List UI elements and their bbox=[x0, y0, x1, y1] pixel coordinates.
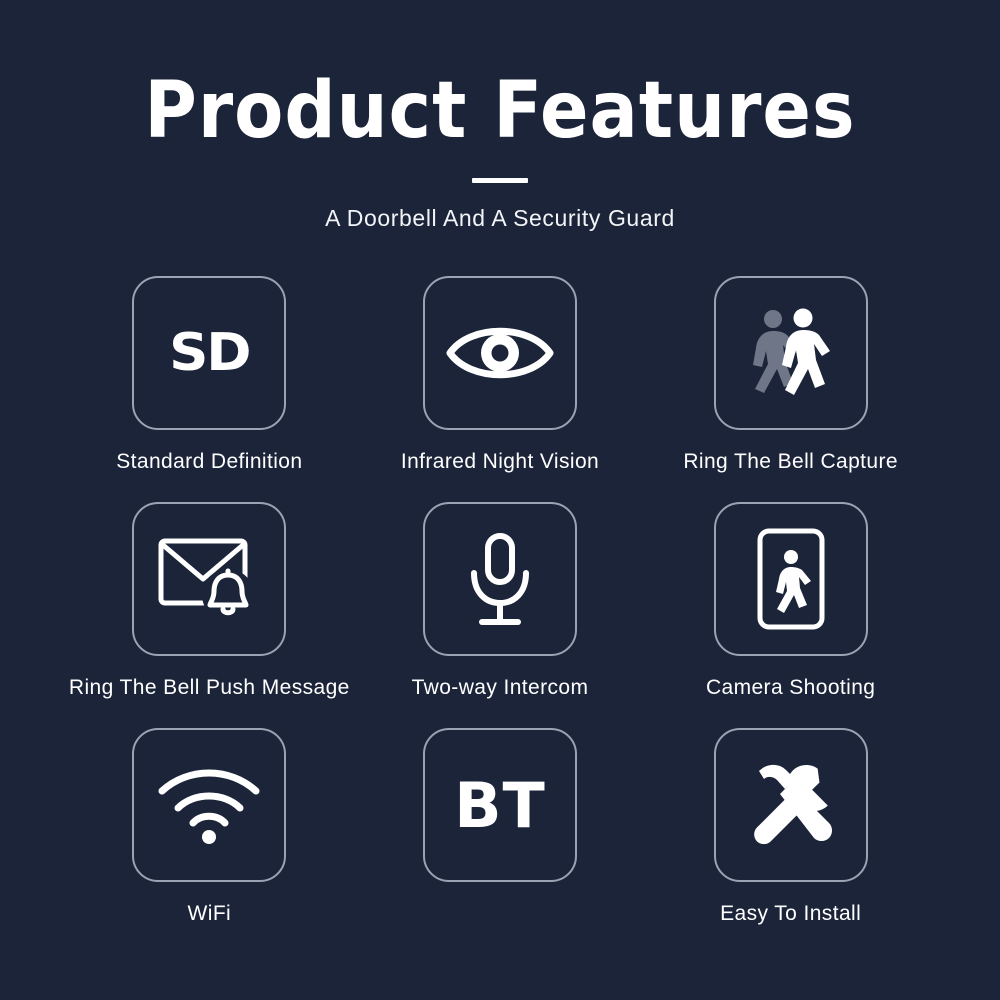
icon-box bbox=[714, 276, 868, 430]
icon-box bbox=[714, 728, 868, 882]
icon-box bbox=[132, 502, 286, 656]
feature-label: WiFi bbox=[188, 902, 232, 926]
title-divider bbox=[472, 178, 528, 183]
icon-box bbox=[423, 276, 577, 430]
feature-item: Camera Shooting bbox=[645, 502, 936, 700]
feature-label: Easy To Install bbox=[720, 902, 861, 926]
feature-label: Two-way Intercom bbox=[412, 676, 589, 700]
phone-person-icon bbox=[755, 527, 827, 631]
feature-label: Ring The Bell Capture bbox=[683, 450, 898, 474]
sd-icon: SD bbox=[169, 323, 249, 383]
product-features-page: Product Features A Doorbell And A Securi… bbox=[0, 0, 1000, 1000]
icon-box bbox=[423, 502, 577, 656]
page-header: Product Features A Doorbell And A Securi… bbox=[0, 0, 1000, 232]
eye-icon bbox=[445, 318, 555, 388]
feature-item: Two-way Intercom bbox=[355, 502, 646, 700]
features-grid: SD Standard Definition Infrared Night Vi… bbox=[0, 276, 1000, 926]
page-title: Product Features bbox=[0, 72, 1000, 150]
feature-label: Ring The Bell Push Message bbox=[69, 676, 350, 700]
feature-item: Ring The Bell Capture bbox=[645, 276, 936, 474]
feature-item: Infrared Night Vision bbox=[355, 276, 646, 474]
icon-box bbox=[714, 502, 868, 656]
feature-label: Infrared Night Vision bbox=[401, 450, 599, 474]
wifi-icon bbox=[156, 765, 262, 845]
microphone-icon bbox=[462, 531, 538, 627]
icon-box: SD bbox=[132, 276, 286, 430]
feature-item: Ring The Bell Push Message bbox=[64, 502, 355, 700]
icon-box: BT bbox=[423, 728, 577, 882]
page-subtitle: A Doorbell And A Security Guard bbox=[0, 205, 1000, 232]
icon-box bbox=[132, 728, 286, 882]
feature-item: BT bbox=[355, 728, 646, 926]
hammer-wrench-icon bbox=[741, 755, 841, 855]
bt-icon: BT bbox=[454, 769, 546, 842]
feature-item: Easy To Install bbox=[645, 728, 936, 926]
envelope-bell-icon bbox=[155, 533, 263, 625]
two-people-walking-icon bbox=[743, 307, 839, 399]
feature-item: WiFi bbox=[64, 728, 355, 926]
feature-item: SD Standard Definition bbox=[64, 276, 355, 474]
feature-label: Standard Definition bbox=[116, 450, 302, 474]
feature-label: Camera Shooting bbox=[706, 676, 875, 700]
